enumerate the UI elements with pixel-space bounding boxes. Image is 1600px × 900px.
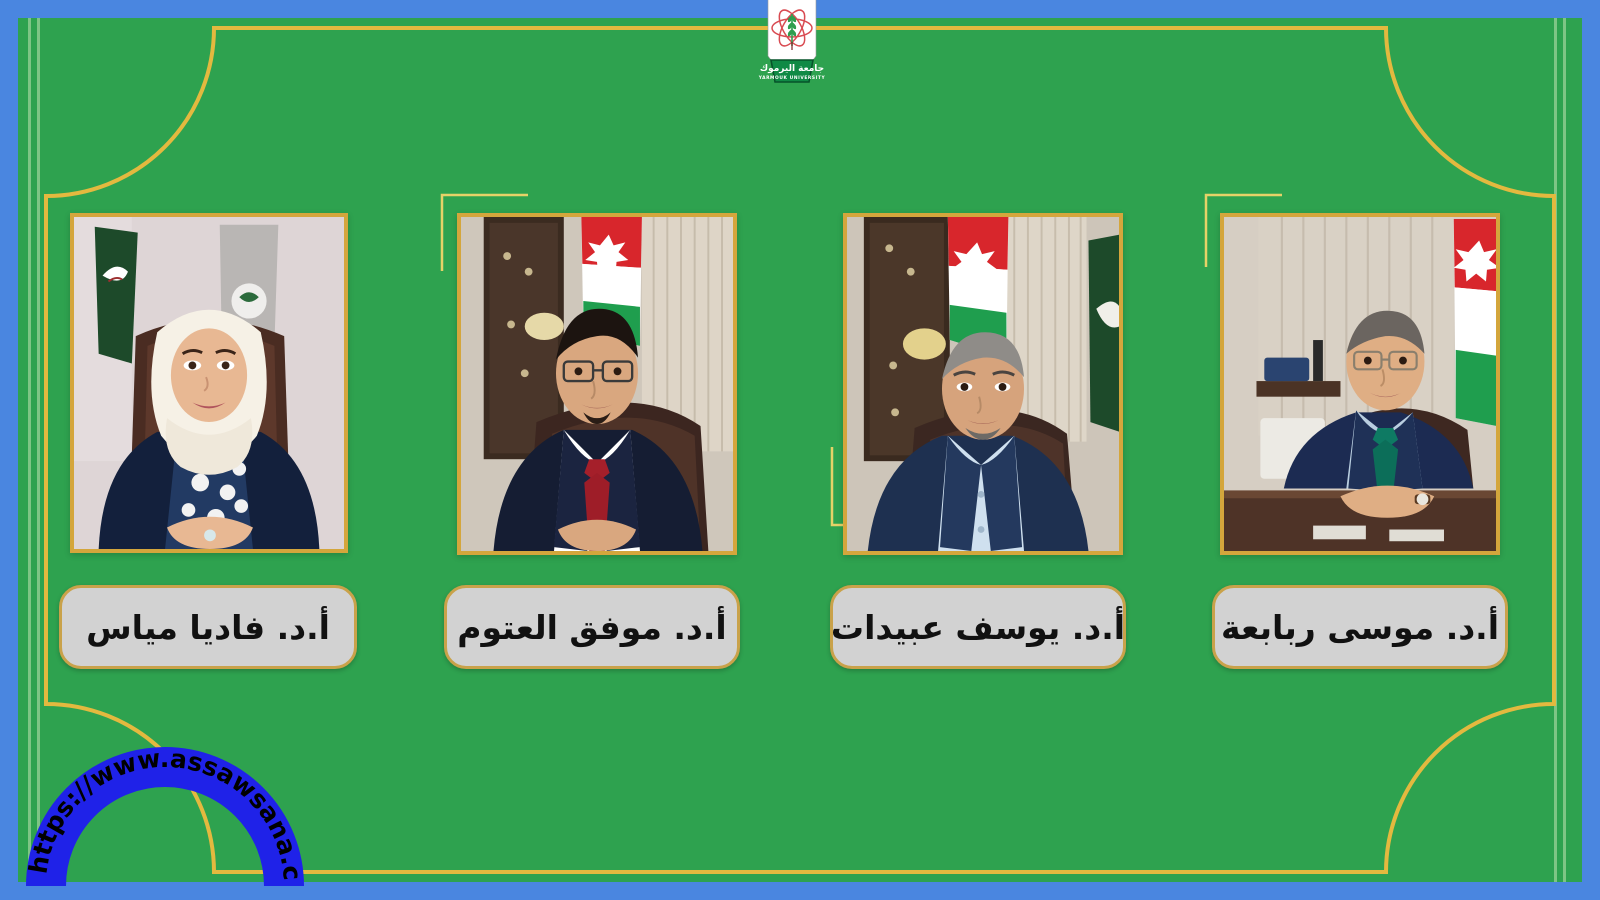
- logo-arabic-text: جامعة اليرموك: [760, 64, 824, 74]
- photo-frame: [843, 213, 1123, 555]
- banner-canvas: جامعة اليرموك YARMOUK UNIVERSITY: [0, 0, 1600, 900]
- nameplate: أ.د. موسى ربابعة: [1212, 585, 1508, 669]
- officials-portrait-row: أ.د. فاديا مياس: [0, 185, 1600, 685]
- person-name-label: أ.د. فاديا مياس: [86, 608, 330, 647]
- nameplate: أ.د. فاديا مياس: [59, 585, 357, 669]
- portrait-photo-mousa-rababaah: [1224, 217, 1496, 551]
- person-name-label: أ.د. يوسف عبيدات: [831, 608, 1125, 647]
- portrait-photo-muwaffaq-al-otoom: [461, 217, 733, 551]
- person-name-label: أ.د. موسى ربابعة: [1221, 608, 1499, 647]
- photo-frame: [457, 213, 737, 555]
- portrait-photo-fadia-mayas: [74, 217, 344, 549]
- nameplate: أ.د. موفق العتوم: [444, 585, 740, 669]
- portrait-photo-yousef-obeidat: [847, 217, 1119, 551]
- nameplate: أ.د. يوسف عبيدات: [830, 585, 1126, 669]
- photo-frame: [70, 213, 348, 553]
- logo-english-text: YARMOUK UNIVERSITY: [758, 75, 826, 81]
- photo-frame: [1220, 213, 1500, 555]
- person-name-label: أ.د. موفق العتوم: [457, 608, 726, 647]
- university-logo: جامعة اليرموك YARMOUK UNIVERSITY: [742, 0, 842, 98]
